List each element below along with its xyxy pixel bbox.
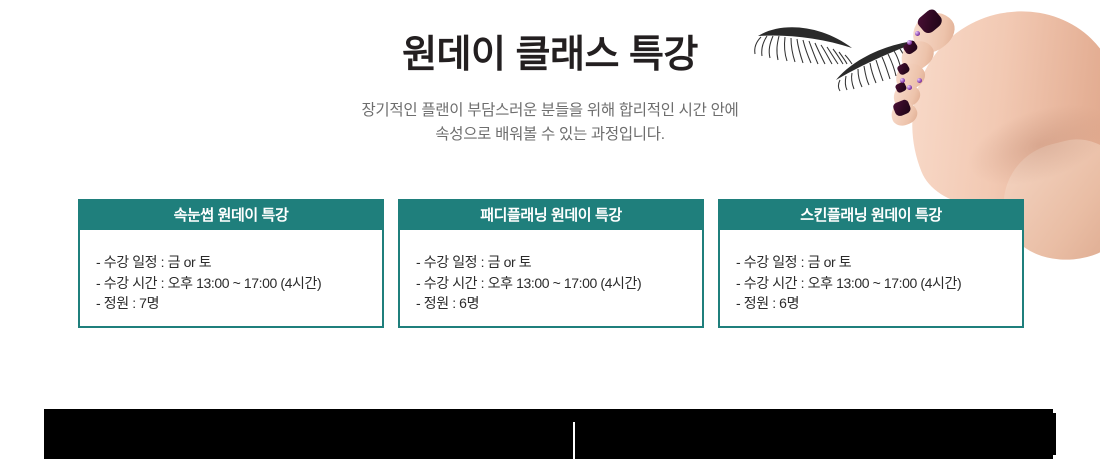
course-detail-schedule: - 수강 일정 : 금 or 토	[416, 252, 702, 273]
course-detail-time: - 수강 시간 : 오후 13:00 ~ 17:00 (4시간)	[736, 273, 1022, 294]
bottom-bar-right-notch	[1053, 409, 1056, 459]
course-card-title: 스킨플래닝 원데이 특강	[718, 199, 1024, 230]
course-detail-time: - 수강 시간 : 오후 13:00 ~ 17:00 (4시간)	[416, 273, 702, 294]
course-card-title: 패디플래닝 원데이 특강	[398, 199, 704, 230]
course-card-pedi-planning[interactable]: 패디플래닝 원데이 특강 - 수강 일정 : 금 or 토 - 수강 시간 : …	[398, 199, 704, 328]
course-card-details: - 수강 일정 : 금 or 토 - 수강 시간 : 오후 13:00 ~ 17…	[400, 230, 702, 314]
course-detail-time: - 수강 시간 : 오후 13:00 ~ 17:00 (4시간)	[96, 273, 382, 294]
course-card-details: - 수강 일정 : 금 or 토 - 수강 시간 : 오후 13:00 ~ 17…	[80, 230, 382, 314]
course-detail-capacity: - 정원 : 6명	[736, 293, 1022, 314]
bottom-banner-bar	[44, 409, 1056, 459]
course-detail-schedule: - 수강 일정 : 금 or 토	[736, 252, 1022, 273]
course-card-details: - 수강 일정 : 금 or 토 - 수강 시간 : 오후 13:00 ~ 17…	[720, 230, 1022, 314]
course-detail-capacity: - 정원 : 6명	[416, 293, 702, 314]
course-card-skin-planning[interactable]: 스킨플래닝 원데이 특강 - 수강 일정 : 금 or 토 - 수강 시간 : …	[718, 199, 1024, 328]
bottom-bar-divider	[573, 422, 575, 459]
course-card-eyelash[interactable]: 속눈썹 원데이 특강 - 수강 일정 : 금 or 토 - 수강 시간 : 오후…	[78, 199, 384, 328]
course-detail-schedule: - 수강 일정 : 금 or 토	[96, 252, 382, 273]
course-detail-capacity: - 정원 : 7명	[96, 293, 382, 314]
course-card-title: 속눈썹 원데이 특강	[78, 199, 384, 230]
course-card-list: 속눈썹 원데이 특강 - 수강 일정 : 금 or 토 - 수강 시간 : 오후…	[0, 0, 1100, 459]
promo-page: 원데이 클래스 특강 장기적인 플랜이 부담스러운 분들을 위해 합리적인 시간…	[0, 0, 1100, 459]
